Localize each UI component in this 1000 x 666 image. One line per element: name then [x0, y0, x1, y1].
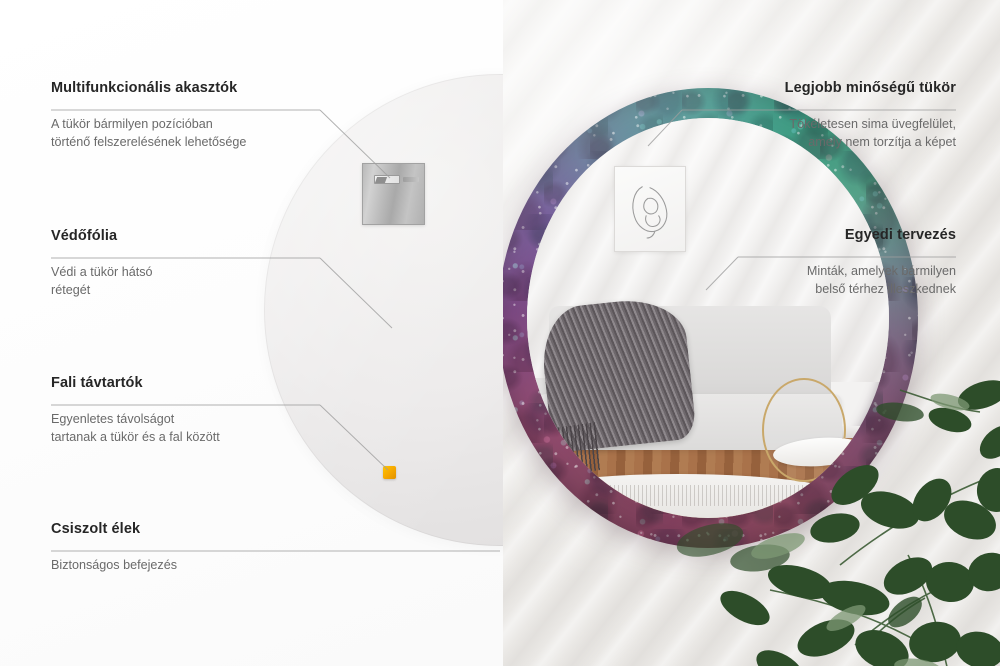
infographic-canvas: Multifunkcionális akasztók A tükör bármi…: [0, 0, 1000, 666]
callout-body: Egyenletes távolságot tartanak a tükör é…: [51, 411, 321, 447]
leader-foil-diagonal: [320, 258, 392, 328]
leader-design-diagonal: [706, 257, 738, 290]
callout-body: Védi a tükör hátsó rétegét: [51, 264, 321, 300]
callout-title: Legjobb minőségű tükör: [688, 80, 956, 97]
leader-spacers-diagonal: [320, 405, 388, 470]
callout-multifunctional-hangers: Multifunkcionális akasztók A tükör bármi…: [51, 80, 321, 152]
callout-title: Csiszolt élek: [51, 521, 500, 538]
callout-unique-design: Egyedi tervezés Minták, amelyek bármilye…: [743, 227, 956, 299]
callout-wall-spacers: Fali távtartók Egyenletes távolságot tar…: [51, 375, 321, 447]
callout-best-quality-mirror: Legjobb minőségű tükör Tökéletesen sima …: [688, 80, 956, 152]
callout-body: Tökéletesen sima üvegfelület, amely nem …: [688, 116, 956, 152]
callout-title: Fali távtartók: [51, 375, 321, 392]
callout-title: Multifunkcionális akasztók: [51, 80, 321, 97]
callout-body: Biztonságos befejezés: [51, 557, 500, 575]
callout-body: A tükör bármilyen pozícióban történő fel…: [51, 116, 321, 152]
leader-hangers-diagonal: [320, 110, 390, 178]
leader-quality-diagonal: [648, 110, 682, 146]
callout-body: Minták, amelyek bármilyen belső térhez i…: [743, 263, 956, 299]
callout-protective-foil: Védőfólia Védi a tükör hátsó rétegét: [51, 228, 321, 300]
callout-title: Védőfólia: [51, 228, 321, 245]
callout-title: Egyedi tervezés: [743, 227, 956, 244]
callout-polished-edges: Csiszolt élek Biztonságos befejezés: [51, 521, 500, 575]
